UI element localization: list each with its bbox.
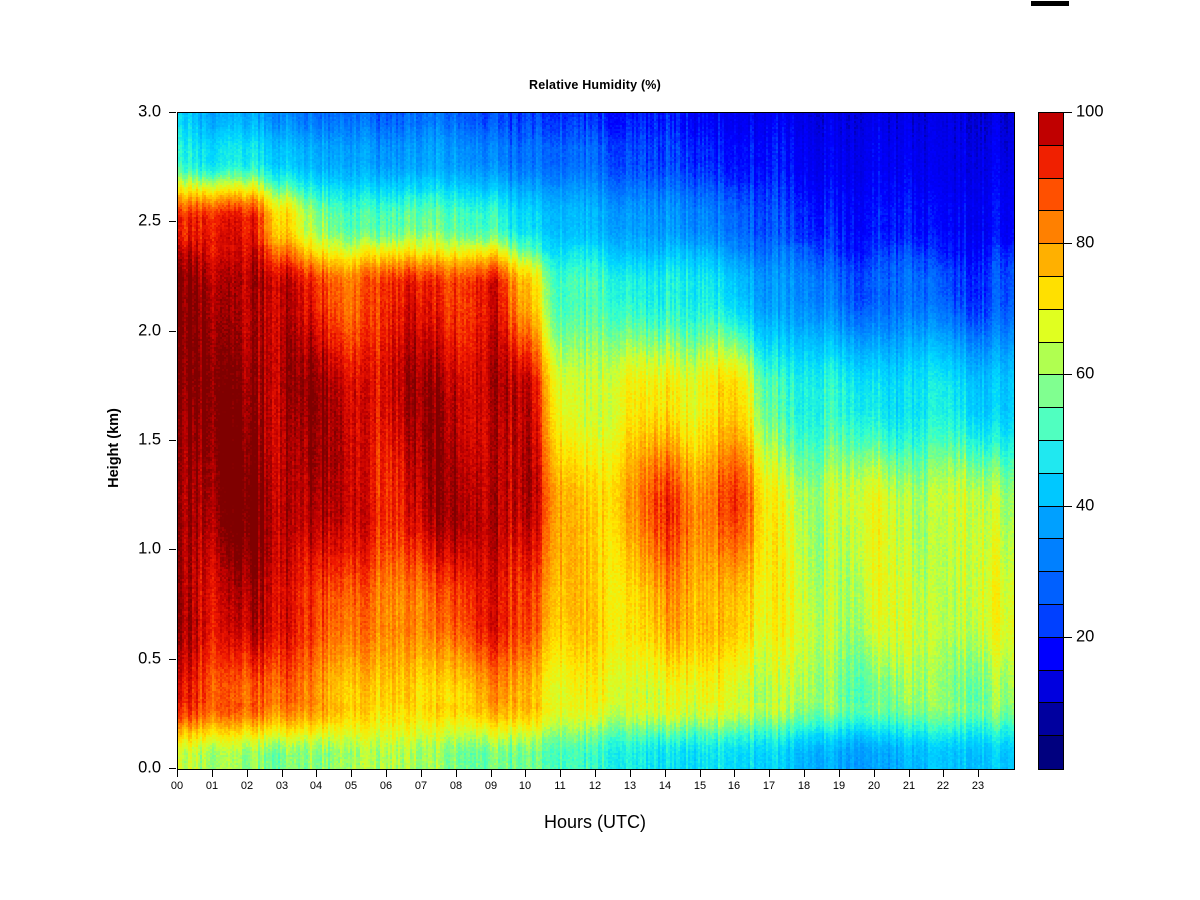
- x-axis-tick-label: 11: [554, 780, 565, 792]
- x-axis-tick-mark: [874, 770, 875, 777]
- x-axis-tick-mark: [839, 770, 840, 777]
- x-axis-tick-mark: [386, 770, 387, 777]
- x-axis-tick-mark: [595, 770, 596, 777]
- colorbar-band: [1039, 113, 1063, 146]
- y-axis-tick-label: 0.0: [87, 759, 161, 778]
- y-axis-tick-label: 0.5: [87, 650, 161, 669]
- y-axis-tick-mark: [169, 112, 176, 113]
- colorbar-band: [1039, 539, 1063, 572]
- x-axis-tick-mark: [909, 770, 910, 777]
- colorbar-band: [1039, 736, 1063, 769]
- x-axis-tick-mark: [943, 770, 944, 777]
- x-axis-tick-mark: [177, 770, 178, 777]
- x-axis-tick-label: 03: [276, 780, 288, 792]
- colorbar-tick-label: 80: [1076, 234, 1094, 253]
- x-axis-tick-label: 18: [798, 780, 810, 792]
- colorbar-band: [1039, 146, 1063, 179]
- colorbar-band: [1039, 703, 1063, 736]
- colorbar-band: [1039, 277, 1063, 310]
- colorbar-band: [1039, 441, 1063, 474]
- x-axis-tick-label: 07: [415, 780, 427, 792]
- colorbar-band: [1039, 507, 1063, 540]
- x-axis-tick-mark: [525, 770, 526, 777]
- colorbar-band: [1039, 671, 1063, 704]
- x-axis-tick-label: 21: [903, 780, 915, 792]
- x-axis-tick-mark: [316, 770, 317, 777]
- y-axis-tick-label: 1.0: [87, 540, 161, 559]
- x-axis-tick-label: 14: [659, 780, 671, 792]
- colorbar-tick-mark: [1064, 243, 1072, 244]
- x-axis-tick-label: 17: [763, 780, 775, 792]
- x-axis-tick-label: 15: [694, 780, 706, 792]
- x-axis-tick-label: 23: [972, 780, 984, 792]
- x-axis-tick-mark: [978, 770, 979, 777]
- x-axis-tick-mark: [560, 770, 561, 777]
- colorbar-band: [1039, 474, 1063, 507]
- figure-canvas: Relative Humidity (%) 0.00.51.01.52.02.5…: [0, 0, 1200, 900]
- x-axis-tick-mark: [630, 770, 631, 777]
- x-axis-tick-label: 02: [241, 780, 253, 792]
- x-axis-tick-mark: [421, 770, 422, 777]
- colorbar-tick-mark: [1064, 374, 1072, 375]
- x-axis-tick-label: 12: [589, 780, 601, 792]
- x-axis-tick-mark: [700, 770, 701, 777]
- x-axis-tick-mark: [665, 770, 666, 777]
- top-right-black-bar-artifact: [1031, 1, 1069, 6]
- x-axis-tick-label: 06: [380, 780, 392, 792]
- x-axis-tick-mark: [804, 770, 805, 777]
- page-title: Relative Humidity (%): [177, 78, 1013, 92]
- x-axis-tick-mark: [491, 770, 492, 777]
- colorbar-tick-label: 100: [1076, 103, 1104, 122]
- colorbar-tick-mark: [1064, 506, 1072, 507]
- x-axis-tick-label: 00: [171, 780, 183, 792]
- colorbar-band: [1039, 343, 1063, 376]
- x-axis-tick-label: 05: [345, 780, 357, 792]
- colorbar-tick-label: 20: [1076, 628, 1094, 647]
- y-axis-tick-mark: [169, 768, 176, 769]
- x-axis-tick-label: 13: [624, 780, 636, 792]
- x-axis-tick-label: 20: [868, 780, 880, 792]
- x-axis-title: Hours (UTC): [177, 812, 1013, 833]
- x-axis-tick-label: 01: [206, 780, 218, 792]
- colorbar-band: [1039, 408, 1063, 441]
- colorbar-band: [1039, 244, 1063, 277]
- colorbar-band: [1039, 638, 1063, 671]
- x-axis-tick-label: 16: [728, 780, 740, 792]
- x-axis-tick-label: 19: [833, 780, 845, 792]
- x-axis-tick-label: 09: [485, 780, 497, 792]
- colorbar-band: [1039, 605, 1063, 638]
- y-axis-tick-mark: [169, 659, 176, 660]
- x-axis-tick-mark: [351, 770, 352, 777]
- x-axis-tick-mark: [247, 770, 248, 777]
- colorbar-band: [1039, 572, 1063, 605]
- x-axis-tick-mark: [456, 770, 457, 777]
- colorbar-tick-label: 40: [1076, 497, 1094, 516]
- colorbar-band: [1039, 310, 1063, 343]
- colorbar-tick-label: 60: [1076, 365, 1094, 384]
- y-axis-tick-label: 2.5: [87, 212, 161, 231]
- colorbar-band: [1039, 375, 1063, 408]
- colorbar-band: [1039, 211, 1063, 244]
- relative-humidity-heatmap: [178, 113, 1014, 769]
- x-axis-tick-mark: [212, 770, 213, 777]
- colorbar-tick-mark: [1064, 112, 1072, 113]
- y-axis-tick-mark: [169, 440, 176, 441]
- y-axis-tick-label: 1.5: [87, 431, 161, 450]
- x-axis-tick-label: 22: [937, 780, 949, 792]
- colorbar-tick-mark: [1064, 637, 1072, 638]
- x-axis-tick-label: 04: [310, 780, 322, 792]
- x-axis-tick-mark: [734, 770, 735, 777]
- y-axis-tick-mark: [169, 221, 176, 222]
- y-axis-tick-mark: [169, 331, 176, 332]
- y-axis-tick-label: 2.0: [87, 322, 161, 341]
- x-axis-tick-mark: [769, 770, 770, 777]
- x-axis-tick-mark: [282, 770, 283, 777]
- x-axis-tick-label: 08: [450, 780, 462, 792]
- y-axis-tick-label: 3.0: [87, 103, 161, 122]
- x-axis-tick-label: 10: [519, 780, 531, 792]
- colorbar: [1038, 112, 1064, 770]
- y-axis-title: Height (km): [106, 378, 122, 518]
- colorbar-band: [1039, 179, 1063, 212]
- y-axis-tick-mark: [169, 549, 176, 550]
- heatmap-plot-area: [177, 112, 1015, 770]
